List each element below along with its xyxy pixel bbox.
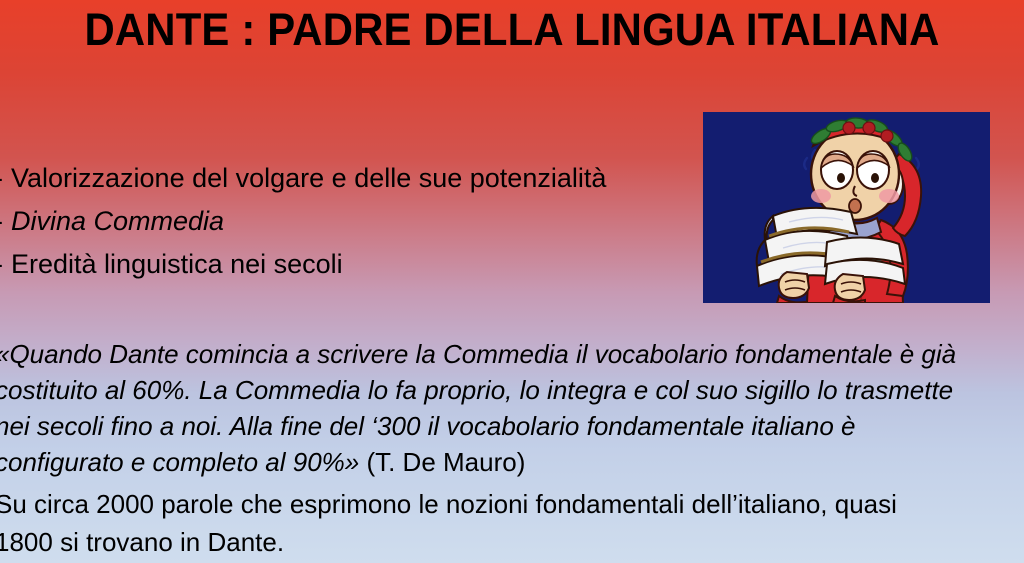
list-item: - Eredità linguistica nei secoli <box>0 243 694 286</box>
bullet-dash-icon: - <box>0 200 11 243</box>
quote-line: nei secoli fino a noi. Alla fine del ‘30… <box>0 408 1024 444</box>
bullet-dash-icon: - <box>0 243 11 286</box>
closing-paragraph: Su circa 2000 parole che esprimono le no… <box>0 485 1024 561</box>
bullet-text: Divina Commedia <box>11 200 224 243</box>
quote-line-text: configurato e completo al 90%» <box>0 447 366 477</box>
bullet-list: - Valorizzazione del volgare e delle sue… <box>0 157 694 286</box>
bullet-text: Valorizzazione del volgare e delle sue p… <box>11 157 606 200</box>
quote-block: «Quando Dante comincia a scrivere la Com… <box>0 336 1024 480</box>
quote-attribution: (T. De Mauro) <box>366 447 525 477</box>
slide-canvas: DANTE : PADRE DELLA LINGUA ITALIANA - Va… <box>0 0 1024 563</box>
closing-line: Su circa 2000 parole che esprimono le no… <box>0 485 1024 523</box>
bullet-text: Eredità linguistica nei secoli <box>11 243 343 286</box>
bullet-dash-icon: - <box>0 157 11 200</box>
list-item: - Valorizzazione del volgare e delle sue… <box>0 157 694 200</box>
dante-carrying-books-illustration <box>703 112 990 303</box>
quote-line: costituito al 60%. La Commedia lo fa pro… <box>0 372 1024 408</box>
quote-line-with-attribution: configurato e completo al 90%» (T. De Ma… <box>0 444 1024 480</box>
quote-line: «Quando Dante comincia a scrivere la Com… <box>0 336 1024 372</box>
list-item: - Divina Commedia <box>0 200 694 243</box>
closing-line: 1800 si trovano in Dante. <box>0 523 1024 561</box>
slide-title: DANTE : PADRE DELLA LINGUA ITALIANA <box>36 2 988 58</box>
